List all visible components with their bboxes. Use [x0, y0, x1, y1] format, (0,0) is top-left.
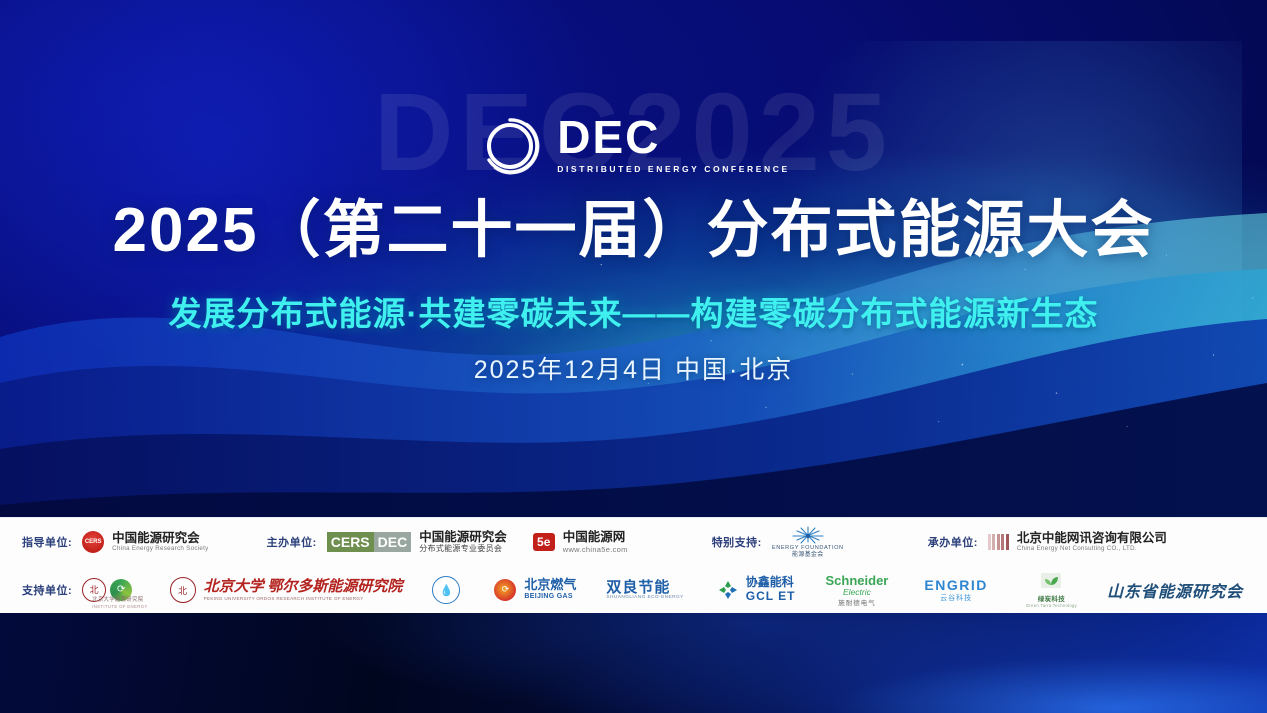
gcl-name-cn: 协鑫能科 — [746, 576, 796, 590]
cenc-name-en: China Energy Net Consulting CO., LTD. — [1017, 545, 1167, 552]
schneider-name-en2: Electric — [843, 587, 871, 597]
shuangliang-name-en: SHUANGLIANG ECO-ENERGY — [606, 595, 683, 601]
sponsor-logo-beijing-gas[interactable]: ⟳ 北京燃气 BEIJING GAS — [494, 578, 576, 601]
sponsor-logo-cers[interactable]: CERS 中国能源研究会 China Energy Research Socie… — [82, 531, 208, 553]
cersdec-dec-block: DEC — [374, 532, 412, 552]
sponsor-logo-green-carbon[interactable]: 绿炭科技 Green Tarra Technology — [1026, 572, 1077, 609]
shuangliang-name-cn: 双良节能 — [606, 580, 683, 595]
energy-foundation-star-icon — [791, 525, 825, 545]
conference-banner: DEC2025 DEC DISTRIBUTED ENERGY CONFERENC… — [0, 0, 1267, 713]
sponsor-logo-engrid[interactable]: ENGRID 云谷科技 — [924, 577, 987, 603]
sponsor-logo-pku-energy[interactable]: 北 ⟳ 北京大学能源研究院 INSTITUTE OF ENERGY — [82, 571, 147, 609]
support-label: 支持单位: — [22, 582, 72, 598]
cers-name-en: China Energy Research Society — [112, 545, 208, 552]
pku-ordos-name-en: PEKING UNIVERSITY ORDOS RESEARCH INSTITU… — [204, 596, 403, 602]
sponsor-logo-energy-foundation[interactable]: ENERGY FOUNDATION 能源基金会 — [772, 525, 844, 559]
cers-seal-icon: CERS — [82, 531, 104, 553]
bottom-background — [0, 613, 1267, 713]
pku-energy-name-en: INSTITUTE OF ENERGY — [92, 604, 147, 609]
date-location: 2025年12月4日 中国·北京 — [0, 350, 1267, 386]
pku-ordos-seal-icon: 北 — [170, 577, 196, 603]
dec-ring-icon — [477, 112, 543, 178]
sponsor-logo-cenc[interactable]: 北京中能网讯咨询有限公司 China Energy Net Consulting… — [988, 531, 1167, 553]
china5e-url: www.china5e.com — [563, 545, 628, 554]
sponsor-bar: 指导单位: CERS 中国能源研究会 China Energy Research… — [0, 517, 1267, 615]
sponsor-logo-shandong-energy-society[interactable]: 山东省能源研究会 — [1107, 578, 1243, 602]
organizer-label: 主办单位: — [267, 534, 317, 550]
schneider-name-cn: 施耐德电气 — [838, 597, 876, 607]
shandong-energy-society-icon: 山东省能源研究会 — [1107, 578, 1243, 602]
page-title: 2025（第二十一届）分布式能源大会 — [0, 198, 1267, 263]
cers-dec-wordmark-icon: CERS DEC — [327, 532, 411, 552]
pku-ordos-name-cn: 北京大学 鄂尔多斯能源研究院 — [204, 579, 403, 596]
sponsor-logo-water-drop[interactable]: 💧 — [432, 576, 460, 604]
gcl-name-en: GCL ET — [746, 590, 796, 604]
sponsor-logo-gcl-et[interactable]: 协鑫能科 GCL ET — [718, 576, 796, 604]
beijing-gas-name-cn: 北京燃气 — [524, 578, 576, 593]
ef-name-en: ENERGY FOUNDATION — [772, 545, 844, 552]
guidance-label: 指导单位: — [22, 534, 72, 550]
cersdec-cers-block: CERS — [327, 532, 374, 552]
china5e-icon: 5e — [533, 533, 555, 551]
sponsor-logo-schneider[interactable]: Schneider Electric 施耐德电气 — [826, 574, 889, 607]
beijing-gas-icon: ⟳ — [494, 579, 516, 601]
sponsor-logo-shuangliang[interactable]: 双良节能 SHUANGLIANG ECO-ENERGY — [606, 580, 683, 601]
hero-section: DEC2025 DEC DISTRIBUTED ENERGY CONFERENC… — [0, 0, 1267, 517]
engrid-name-cn: 云谷科技 — [940, 593, 972, 603]
dec-tagline: DISTRIBUTED ENERGY CONFERENCE — [557, 164, 790, 174]
green-carbon-name-en: Green Tarra Technology — [1026, 603, 1077, 608]
water-drop-icon: 💧 — [432, 576, 460, 604]
sponsor-row-2: 支持单位: 北 ⟳ 北京大学能源研究院 INSTITUTE OF ENERGY … — [0, 566, 1267, 614]
host-label: 承办单位: — [928, 534, 978, 550]
dec-logo-lockup: DEC DISTRIBUTED ENERGY CONFERENCE — [0, 112, 1267, 178]
cersdec-name-cn: 中国能源研究会 — [419, 530, 507, 544]
cers-name-cn: 中国能源研究会 — [112, 531, 208, 545]
dec-wordmark: DEC — [557, 116, 790, 160]
green-carbon-name-cn: 绿炭科技 — [1038, 596, 1065, 604]
cenc-name-cn: 北京中能网讯咨询有限公司 — [1017, 531, 1167, 545]
green-carbon-icon — [1040, 572, 1062, 596]
page-subtitle: 发展分布式能源·共建零碳未来——构建零碳分布式能源新生态 — [0, 296, 1267, 332]
sponsor-logo-cers-dec[interactable]: CERS DEC 中国能源研究会 分布式能源专业委员会 — [327, 530, 507, 554]
sponsor-row-1: 指导单位: CERS 中国能源研究会 China Energy Research… — [0, 518, 1267, 566]
schneider-name-en: Schneider — [826, 574, 889, 587]
engrid-name-en: ENGRID — [924, 577, 987, 593]
china5e-name-cn: 中国能源网 — [563, 530, 628, 544]
sponsor-logo-china5e[interactable]: 5e 中国能源网 www.china5e.com — [533, 530, 628, 553]
sponsor-logo-pku-ordos[interactable]: 北 北京大学 鄂尔多斯能源研究院 PEKING UNIVERSITY ORDOS… — [170, 577, 403, 603]
special-support-label: 特别支持: — [712, 534, 762, 550]
barcode-icon — [988, 534, 1009, 550]
beijing-gas-name-en: BEIJING GAS — [524, 593, 576, 601]
cersdec-name-cn2: 分布式能源专业委员会 — [419, 544, 507, 554]
ef-name-cn: 能源基金会 — [792, 552, 824, 559]
gcl-et-icon — [718, 580, 738, 600]
